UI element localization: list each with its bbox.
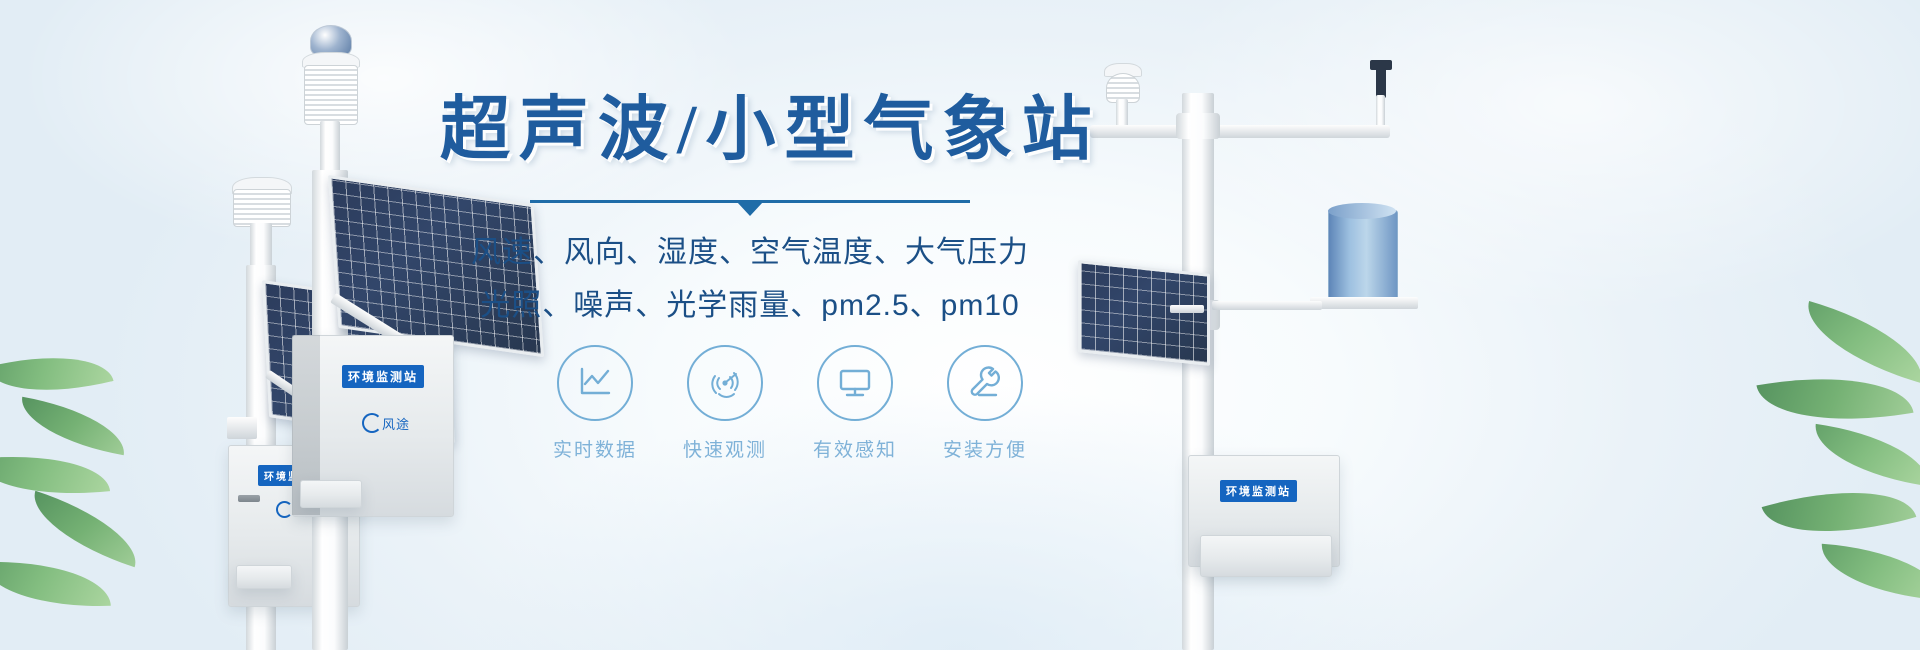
feature-item-easy-install[interactable]: 安装方便	[930, 345, 1040, 462]
brand-mark-icon-large	[362, 413, 382, 433]
feature-item-effective-sensing[interactable]: 有效感知	[800, 345, 910, 462]
cabinet-bottom-right	[1200, 535, 1332, 577]
mast-pole	[250, 223, 272, 271]
radiation-shield-sensor-large	[304, 65, 358, 125]
brand-name-center: 风途	[382, 414, 410, 433]
feature-icon-circle	[817, 345, 893, 421]
solar-panel-arm-right	[1170, 305, 1204, 313]
monitor-icon	[835, 363, 875, 403]
weather-station-right: 环境监测站	[1060, 55, 1480, 650]
radar-signal-icon	[705, 363, 745, 403]
shelf-support-arm	[1212, 301, 1322, 310]
leaf-icon	[0, 338, 114, 410]
subtitle-line-1: 风速、风向、湿度、空气温度、大气压力	[440, 229, 1060, 278]
page-title: 超声波/小型气象站	[440, 96, 1060, 166]
feature-list: 实时数据 快速观测	[540, 345, 1040, 462]
feature-icon-circle	[557, 345, 633, 421]
cabinet-vent	[238, 495, 260, 502]
product-banner: 环境监测站 风途 环境监测站 风途	[0, 0, 1920, 650]
feature-icon-circle	[687, 345, 763, 421]
station-label-tag-large: 环境监测站	[342, 365, 424, 388]
leaf-icon	[1818, 544, 1920, 601]
pole-collar-upper	[1176, 113, 1220, 139]
banner-content: 超声波/小型气象站 风速、风向、湿度、空气温度、大气压力 光照、噪声、光学雨量、…	[440, 96, 1060, 330]
feature-label: 实时数据	[553, 435, 637, 462]
leaf-icon	[1762, 467, 1917, 557]
feature-item-fast-observation[interactable]: 快速观测	[670, 345, 780, 462]
leaf-icon	[1809, 424, 1920, 486]
line-chart-icon	[575, 363, 615, 403]
rain-gauge	[1328, 210, 1398, 300]
feature-label: 有效感知	[813, 435, 897, 462]
cabinet-bottom-plate	[300, 480, 362, 508]
feature-item-realtime-data[interactable]: 实时数据	[540, 345, 650, 462]
wrench-icon	[965, 363, 1005, 403]
leaf-icon	[1796, 301, 1920, 383]
leaf-icon	[0, 445, 110, 504]
pole-bracket	[227, 417, 257, 439]
rain-gauge-shelf	[1310, 297, 1418, 309]
station-label-tag-right: 环境监测站	[1220, 480, 1297, 502]
leaf-icon	[0, 558, 111, 610]
title-divider	[530, 200, 970, 203]
feature-label: 安装方便	[943, 435, 1027, 462]
rain-gauge-rim	[1328, 203, 1396, 219]
subtitle-line-2: 光照、噪声、光学雨量、pm2.5、pm10	[440, 282, 1060, 331]
cross-arm	[1090, 125, 1390, 138]
feature-icon-circle	[947, 345, 1023, 421]
feature-label: 快速观测	[683, 435, 767, 462]
wind-vane-body	[1376, 68, 1386, 98]
